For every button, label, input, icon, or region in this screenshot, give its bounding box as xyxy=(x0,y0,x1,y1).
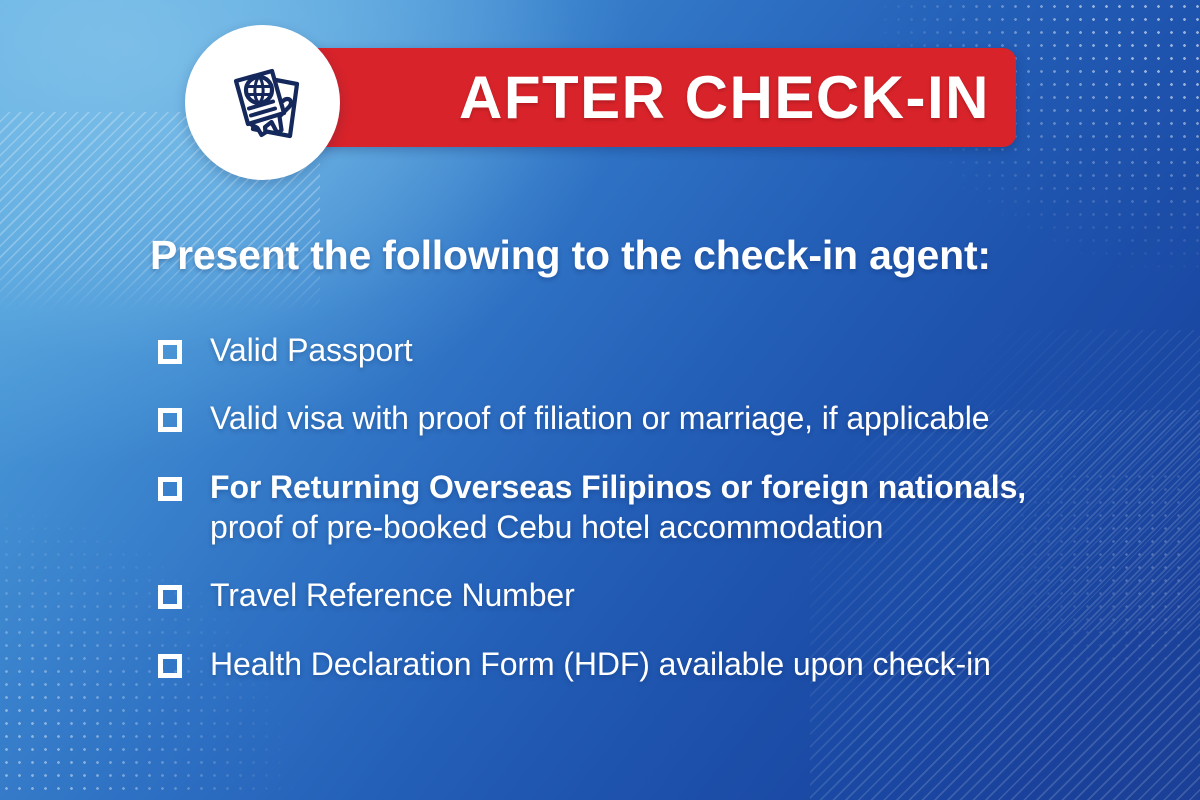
checklist-item-label: Valid Passport xyxy=(210,330,413,370)
checklist: Valid Passport Valid visa with proof of … xyxy=(150,330,1100,684)
empty-checkbox-icon[interactable] xyxy=(158,340,182,364)
empty-checkbox-icon[interactable] xyxy=(158,585,182,609)
header: AFTER CHECK-IN xyxy=(0,0,1200,200)
checklist-item-valid-visa[interactable]: Valid visa with proof of filiation or ma… xyxy=(150,398,1100,438)
empty-checkbox-icon[interactable] xyxy=(158,408,182,432)
checklist-item-valid-passport[interactable]: Valid Passport xyxy=(150,330,1100,370)
checklist-item-label: Travel Reference Number xyxy=(210,575,575,615)
checklist-item-regular-line: proof of pre-booked Cebu hotel accommoda… xyxy=(210,507,1026,547)
checklist-item-label: Valid visa with proof of filiation or ma… xyxy=(210,398,989,438)
checklist-item-bold-line: For Returning Overseas Filipinos or fore… xyxy=(210,467,1026,507)
poster-canvas: AFTER CHECK-IN xyxy=(0,0,1200,800)
checklist-item-regular-line: Health Declaration Form (HDF) available … xyxy=(210,644,991,684)
checklist-item-travel-reference-number[interactable]: Travel Reference Number xyxy=(150,575,1100,615)
empty-checkbox-icon[interactable] xyxy=(158,477,182,501)
checklist-item-regular-line: Travel Reference Number xyxy=(210,575,575,615)
passport-boarding-pass-icon xyxy=(211,51,315,155)
checklist-item-regular-line: Valid Passport xyxy=(210,330,413,370)
empty-checkbox-icon[interactable] xyxy=(158,654,182,678)
page-title: AFTER CHECK-IN xyxy=(268,48,1016,147)
checklist-item-regular-line: Valid visa with proof of filiation or ma… xyxy=(210,398,989,438)
checklist-item-health-declaration-form[interactable]: Health Declaration Form (HDF) available … xyxy=(150,644,1100,684)
section-subtitle: Present the following to the check-in ag… xyxy=(150,233,991,278)
badge-circle xyxy=(185,25,340,180)
title-banner: AFTER CHECK-IN xyxy=(268,48,1016,147)
checklist-item-label: For Returning Overseas Filipinos or fore… xyxy=(210,467,1026,548)
checklist-item-label: Health Declaration Form (HDF) available … xyxy=(210,644,991,684)
checklist-item-returning-overseas-filipinos[interactable]: For Returning Overseas Filipinos or fore… xyxy=(150,467,1100,548)
